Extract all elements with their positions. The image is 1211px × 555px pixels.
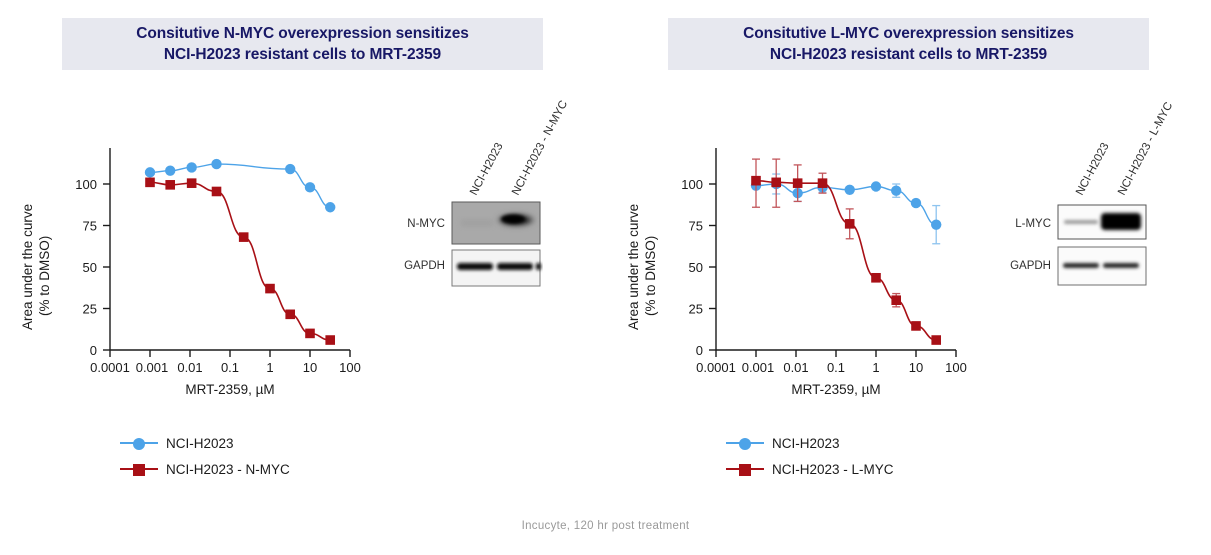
y-tick-75: 75 <box>83 219 97 234</box>
blot-row-label-0: N-MYC <box>407 218 445 230</box>
data-point-square <box>891 295 901 305</box>
y-axis-label-line2: (% to DMSO) <box>643 236 658 316</box>
legend-item[interactable]: NCI-H2023 - L-MYC <box>726 456 1056 482</box>
data-point-square <box>305 329 315 339</box>
x-tick-4: 1 <box>266 360 273 375</box>
x-tick-5: 10 <box>909 360 923 375</box>
blot-lane-label-1: NCI-H2023 - N-MYC <box>510 99 570 198</box>
data-point-circle <box>844 185 854 195</box>
y-tick-25: 25 <box>83 302 97 317</box>
data-point-circle <box>871 181 881 191</box>
y-tick-100: 100 <box>681 177 703 192</box>
dose-response-plot-n-myc: Area under the curve (% to DMSO) 0 25 50… <box>18 120 418 400</box>
blot-panel-l-myc <box>1058 205 1146 239</box>
blot-lane-label-0: NCI-H2023 <box>1074 141 1112 197</box>
y-tick-0: 0 <box>696 343 703 358</box>
western-blot-n-myc: NCI-H2023 NCI-H2023 - N-MYC N-MYC GAPDH <box>385 92 590 292</box>
blot-row-label-0: L-MYC <box>1015 218 1051 230</box>
panel-n-myc: Consitutive N-MYC overexpression sensiti… <box>0 0 605 520</box>
x-tick-2: 0.01 <box>177 360 202 375</box>
y-axis-label-line1: Area under the curve <box>20 204 35 330</box>
data-point-square <box>187 178 197 188</box>
data-point-circle <box>165 166 175 176</box>
x-tick-0: 0.0001 <box>90 360 130 375</box>
x-tick-6: 100 <box>945 360 967 375</box>
x-tick-1: 0.001 <box>136 360 169 375</box>
y-tick-50: 50 <box>83 260 97 275</box>
plot-svg: Area under the curve (% to DMSO) 0 25 50… <box>624 120 1024 400</box>
blot-lane-label-0: NCI-H2023 <box>468 141 506 197</box>
y-tick-25: 25 <box>689 302 703 317</box>
x-tick-1: 0.001 <box>742 360 775 375</box>
blot-panel-gapdh <box>452 250 541 286</box>
data-point-square <box>212 187 222 197</box>
blot-panel-n-myc <box>452 202 540 244</box>
data-point-square <box>239 232 249 242</box>
data-point-circle <box>931 219 941 229</box>
panel-title-line1: Consitutive N-MYC overexpression sensiti… <box>136 23 469 44</box>
legend-marker-circle-icon <box>120 436 158 450</box>
x-tick-5: 10 <box>303 360 317 375</box>
legend-marker-square-icon <box>120 462 158 476</box>
data-point-square <box>931 335 941 345</box>
blot-panel-gapdh <box>1058 247 1146 285</box>
series-line-nci-h2023 <box>150 164 330 207</box>
legend-label: NCI-H2023 - N-MYC <box>166 462 290 477</box>
legend-label: NCI-H2023 <box>166 436 234 451</box>
x-tick-0: 0.0001 <box>696 360 736 375</box>
series-layer <box>751 159 942 345</box>
legend-n-myc: NCI-H2023 NCI-H2023 - N-MYC <box>120 430 450 482</box>
data-point-square <box>325 335 335 345</box>
y-tick-50: 50 <box>689 260 703 275</box>
data-point-circle <box>145 167 155 177</box>
x-axis-label: MRT-2359, µM <box>185 382 274 397</box>
panel-title-n-myc: Consitutive N-MYC overexpression sensiti… <box>62 18 543 70</box>
x-tick-3: 0.1 <box>827 360 845 375</box>
x-tick-3: 0.1 <box>221 360 239 375</box>
data-point-square <box>165 180 175 190</box>
legend-marker-square-icon <box>726 462 764 476</box>
y-ticks: 0 25 50 75 100 <box>681 177 716 358</box>
data-point-circle <box>186 162 196 172</box>
y-axis-label-line1: Area under the curve <box>626 204 641 330</box>
panel-l-myc: Consitutive L-MYC overexpression sensiti… <box>606 0 1211 520</box>
panel-title-line2: NCI-H2023 resistant cells to MRT-2359 <box>770 44 1047 65</box>
western-blot-l-myc: NCI-H2023 NCI-H2023 - L-MYC L-MYC GAPDH <box>991 92 1196 292</box>
legend-item[interactable]: NCI-H2023 <box>120 430 450 456</box>
blot-lane-label-1: NCI-H2023 - L-MYC <box>1116 100 1175 197</box>
panel-title-line2: NCI-H2023 resistant cells to MRT-2359 <box>164 44 441 65</box>
data-point-circle <box>211 159 221 169</box>
x-tick-4: 1 <box>872 360 879 375</box>
x-ticks: 0.0001 0.001 0.01 0.1 1 10 100 <box>696 350 967 375</box>
data-point-square <box>793 178 803 188</box>
legend-item[interactable]: NCI-H2023 - N-MYC <box>120 456 450 482</box>
data-point-square <box>771 178 781 188</box>
x-ticks: 0.0001 0.001 0.01 0.1 1 10 100 <box>90 350 361 375</box>
panel-title-line1: Consitutive L-MYC overexpression sensiti… <box>743 23 1074 44</box>
data-point-square <box>818 178 828 188</box>
legend-marker-circle-icon <box>726 436 764 450</box>
series-line-nci-h2023-n-myc <box>150 182 330 340</box>
data-point-square <box>145 178 155 188</box>
legend-l-myc: NCI-H2023 NCI-H2023 - L-MYC <box>726 430 1056 482</box>
data-point-square <box>751 176 761 186</box>
x-axis-label: MRT-2359, µM <box>791 382 880 397</box>
data-point-square <box>911 321 921 331</box>
y-axis-label-line2: (% to DMSO) <box>37 236 52 316</box>
series-line-nci-h2023-l-myc <box>756 181 936 340</box>
legend-label: NCI-H2023 - L-MYC <box>772 462 894 477</box>
blot-svg: NCI-H2023 NCI-H2023 - N-MYC N-MYC GAPDH <box>385 92 590 292</box>
data-point-square <box>285 310 295 320</box>
blot-row-label-1: GAPDH <box>404 260 445 272</box>
dose-response-plot-l-myc: Area under the curve (% to DMSO) 0 25 50… <box>624 120 1024 400</box>
x-tick-2: 0.01 <box>783 360 808 375</box>
blot-svg: NCI-H2023 NCI-H2023 - L-MYC L-MYC GAPDH <box>991 92 1196 292</box>
data-point-circle <box>911 198 921 208</box>
y-tick-100: 100 <box>75 177 97 192</box>
y-tick-75: 75 <box>689 219 703 234</box>
series-layer <box>145 159 336 345</box>
blot-row-label-1: GAPDH <box>1010 260 1051 272</box>
figure-footnote: Incucyte, 120 hr post treatment <box>0 520 1211 532</box>
data-point-circle <box>285 164 295 174</box>
data-point-square <box>871 273 881 283</box>
y-ticks: 0 25 50 75 100 <box>75 177 110 358</box>
data-point-square <box>845 219 855 229</box>
legend-item[interactable]: NCI-H2023 <box>726 430 1056 456</box>
data-point-circle <box>305 182 315 192</box>
data-point-circle <box>891 185 901 195</box>
data-point-square <box>265 284 275 294</box>
legend-label: NCI-H2023 <box>772 436 840 451</box>
plot-svg: Area under the curve (% to DMSO) 0 25 50… <box>18 120 418 400</box>
panel-title-l-myc: Consitutive L-MYC overexpression sensiti… <box>668 18 1149 70</box>
x-tick-6: 100 <box>339 360 361 375</box>
y-tick-0: 0 <box>90 343 97 358</box>
data-point-circle <box>325 202 335 212</box>
